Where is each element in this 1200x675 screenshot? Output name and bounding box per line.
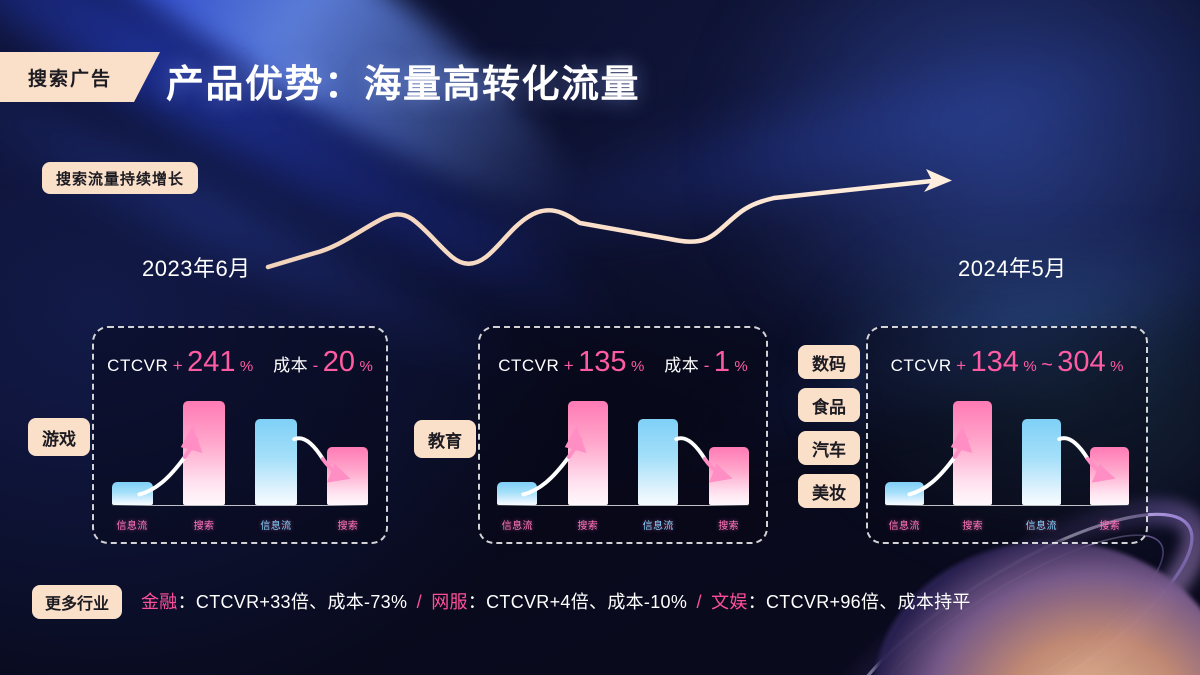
ctcvr-sign: + (564, 356, 574, 375)
cost-label: 成本 (273, 356, 308, 375)
metric-headline: CTCVR + 241 % 成本 - 20 % (94, 346, 386, 379)
page-title: 产品优势：海量高转化流量 (166, 53, 640, 108)
sector-tag-game: 游戏 (28, 418, 90, 456)
bar-group (112, 401, 369, 505)
footer-separator-1: / (413, 592, 426, 612)
ctcvr-value: 241 (187, 346, 235, 378)
sector-tag-food-label: 食品 (812, 393, 846, 418)
industry-detail-finance: ：CTCVR+33倍、成本-73% (178, 592, 408, 612)
bar-3 (327, 447, 368, 505)
more-industries-label: 更多行业 (45, 590, 109, 614)
bar-label-2: 信息流 (1022, 517, 1061, 532)
sector-tag-auto: 汽车 (798, 431, 860, 465)
bar-label-group: 信息流 搜索 信息流 搜索 (112, 517, 369, 532)
footer-separator-2: / (692, 592, 705, 612)
cost-value: 1 (714, 346, 730, 378)
sector-tag-stack: 数码 食品 汽车 美妆 (798, 345, 860, 517)
slide-canvas: 搜索广告 产品优势：海量高转化流量 搜索流量持续增长 2023年6月 2024年… (0, 0, 1200, 675)
sector-tag-auto-label: 汽车 (812, 436, 846, 461)
industry-detail-internet: ：CTCVR+4倍、成本-10% (468, 592, 687, 612)
ctcvr-unit: % (631, 358, 644, 375)
growth-end-date: 2024年5月 (958, 251, 1067, 283)
more-industries-pill: 更多行业 (32, 585, 122, 619)
ctcvr-unit-max: % (1110, 358, 1123, 375)
metric-headline: CTCVR + 135 % 成本 - 1 % (480, 346, 766, 379)
bar-1 (568, 401, 608, 505)
bar-chart: 信息流 搜索 信息流 搜索 (94, 384, 386, 542)
ctcvr-label: CTCVR (107, 356, 168, 375)
bar-label-2: 信息流 (638, 517, 678, 532)
sector-tag-digital-label: 数码 (812, 350, 846, 375)
metric-card-education: CTCVR + 135 % 成本 - 1 % 信息流 搜索 信息流 搜索 (478, 326, 768, 544)
bar-2 (255, 419, 296, 505)
industry-detail-media: ：CTCVR+96倍、成本持平 (748, 592, 971, 612)
cost-unit: % (359, 358, 372, 375)
ctcvr-label: CTCVR (498, 356, 559, 375)
bar-1 (953, 401, 992, 505)
cost-sign: - (704, 356, 710, 375)
sector-tag-digital: 数码 (798, 345, 860, 379)
ctcvr-sign: + (956, 356, 966, 375)
bar-chart: 信息流 搜索 信息流 搜索 (480, 384, 766, 542)
bar-1 (183, 401, 224, 505)
bar-label-0: 信息流 (112, 517, 153, 532)
bar-chart: 信息流 搜索 信息流 搜索 (868, 384, 1146, 542)
industry-name-internet: 网服 (431, 592, 468, 612)
trend-up-arrow-icon (260, 165, 960, 280)
growth-pill-label: 搜索流量持续增长 (56, 168, 184, 189)
bar-3 (1090, 447, 1129, 505)
bar-label-1: 搜索 (568, 517, 608, 532)
bar-label-0: 信息流 (497, 517, 537, 532)
bar-label-3: 搜索 (709, 517, 749, 532)
bar-2 (1022, 419, 1061, 505)
bar-label-1: 搜索 (953, 517, 992, 532)
metric-card-game: CTCVR + 241 % 成本 - 20 % 信息流 搜索 信息流 搜索 (92, 326, 388, 544)
sector-tag-game-label: 游戏 (42, 425, 76, 450)
bar-label-0: 信息流 (885, 517, 924, 532)
sector-tag-education-label: 教育 (428, 427, 462, 452)
range-separator: ~ (1041, 354, 1053, 376)
ctcvr-label: CTCVR (891, 356, 952, 375)
bar-2 (638, 419, 678, 505)
bar-3 (709, 447, 749, 505)
ctcvr-unit: % (240, 358, 253, 375)
bar-label-group: 信息流 搜索 信息流 搜索 (885, 517, 1130, 532)
sector-tag-beauty-label: 美妆 (812, 479, 846, 504)
ctcvr-value-min: 134 (970, 346, 1018, 378)
sector-tag-beauty: 美妆 (798, 474, 860, 508)
bar-label-3: 搜索 (1090, 517, 1129, 532)
bar-label-3: 搜索 (327, 517, 368, 532)
ctcvr-sign: + (173, 356, 183, 375)
ctcvr-value-max: 304 (1057, 346, 1105, 378)
metric-headline: CTCVR + 134 % ~ 304 % (868, 346, 1146, 379)
more-industries-text: 金融：CTCVR+33倍、成本-73% / 网服：CTCVR+4倍、成本-10%… (141, 588, 971, 614)
bar-group (497, 401, 749, 505)
category-badge-label: 搜索广告 (28, 64, 112, 91)
bar-0 (112, 482, 153, 505)
cost-label: 成本 (664, 356, 699, 375)
industry-name-finance: 金融 (141, 592, 178, 612)
bar-label-1: 搜索 (183, 517, 224, 532)
bar-0 (885, 482, 924, 505)
growth-pill: 搜索流量持续增长 (42, 162, 198, 194)
cost-sign: - (313, 356, 319, 375)
industry-name-media: 文娱 (711, 592, 748, 612)
cost-unit: % (734, 358, 747, 375)
cost-value: 20 (323, 346, 355, 378)
sector-tag-education: 教育 (414, 420, 476, 458)
bar-group (885, 401, 1130, 505)
ctcvr-value: 135 (578, 346, 626, 378)
ctcvr-unit-min: % (1023, 358, 1036, 375)
growth-start-date: 2023年6月 (142, 251, 251, 283)
sector-tag-food: 食品 (798, 388, 860, 422)
bar-label-2: 信息流 (255, 517, 296, 532)
bar-0 (497, 482, 537, 505)
metric-card-others: CTCVR + 134 % ~ 304 % 信息流 搜索 信息流 搜索 (866, 326, 1148, 544)
category-badge: 搜索广告 (0, 52, 160, 102)
bar-label-group: 信息流 搜索 信息流 搜索 (497, 517, 749, 532)
